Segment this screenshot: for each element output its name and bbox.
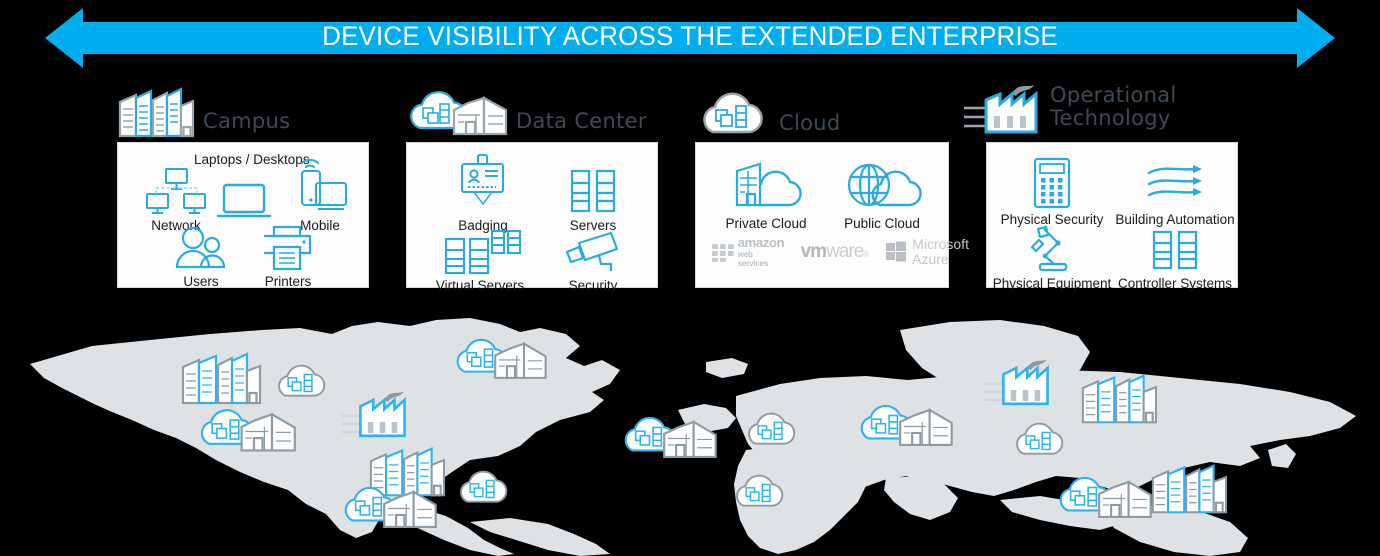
campus-panel: Laptops / Desktops [117,142,369,288]
security-camera-icon [547,221,639,275]
windows-logo-icon [885,241,907,263]
tile-label: Printers [242,274,334,289]
vmware-logo: vm ware ® [801,241,870,263]
page-title: DEVICE VISIBILITY ACROSS THE EXTENDED EN… [28,0,1353,72]
cloud-vendor-logos: amazon web services vm ware ® Microsoft [710,235,969,268]
tile-security[interactable]: Security [547,221,639,293]
aws-logo: amazon web services [710,235,785,268]
azure-line1: Microsoft [912,237,969,252]
aws-name: amazon [738,235,785,250]
tile-virtual-servers[interactable]: Virtual Servers [417,221,543,293]
printer-icon [242,217,334,271]
category-cloud: Cloud Private Cloud [695,84,949,288]
tile-label: Security [547,278,639,293]
data-center-title: Data Center [516,110,647,132]
airflow-icon [1109,155,1241,209]
factory-icon [964,80,1064,147]
datacenter-cloud-building-icon [406,84,511,144]
campus-header: Campus [117,84,369,142]
azure-line2: Azure [912,252,969,267]
tile-label: Controller Systems [1109,276,1241,291]
cloud-header: Cloud [695,84,949,142]
aws-boxes-icon [710,240,736,264]
tile-public-cloud[interactable]: Public Cloud [824,157,940,231]
ot-header: Operational Technology [986,78,1238,142]
tile-label: Private Cloud [708,216,824,231]
data-center-header: Data Center [406,84,658,142]
controller-racks-icon [1109,219,1241,273]
category-operational-technology: Operational Technology Physical Security [986,78,1238,288]
vmware-name-bold: vm [801,241,826,263]
vmware-trademark: ® [863,250,869,259]
private-cloud-icon [708,157,824,213]
virtual-servers-icon [417,221,543,275]
tile-printers[interactable]: Printers [242,217,334,289]
cloud-servers-icon [695,88,773,145]
public-cloud-icon [824,157,940,213]
tile-private-cloud[interactable]: Private Cloud [708,157,824,231]
cloud-panel: Private Cloud Public Cloud [695,142,949,288]
category-data-center: Data Center Badging [406,84,658,288]
office-buildings-icon [117,84,197,144]
tile-physical-equipment[interactable]: Physical Equipment [989,219,1115,291]
aws-subtitle: web services [738,250,785,268]
vmware-name-light: ware [826,241,863,263]
tile-label: Users [158,274,244,289]
tile-label: Public Cloud [824,216,940,231]
tile-controller-systems[interactable]: Controller Systems [1109,219,1241,291]
robot-arm-icon [989,219,1115,273]
tile-building-automation[interactable]: Building Automation [1109,155,1241,227]
ot-panel: Physical Security Building Au [986,142,1238,288]
keypad-icon [989,155,1115,209]
campus-title: Campus [203,110,290,132]
tile-label: Virtual Servers [417,278,543,293]
world-map [0,300,1380,556]
tile-users[interactable]: Users [158,217,244,289]
data-center-panel: Badging Servers [406,142,658,288]
badge-card-icon [431,153,535,215]
tile-label: Physical Equipment [989,276,1115,291]
banner: DEVICE VISIBILITY ACROSS THE EXTENDED EN… [0,0,1380,72]
azure-logo: Microsoft Azure [885,237,969,267]
mobile-devices-icon [270,153,370,215]
servers-icon [547,161,639,215]
tile-physical-security[interactable]: Physical Security [989,155,1115,227]
ot-title: Operational Technology [1050,84,1177,130]
cloud-title: Cloud [779,112,841,134]
users-icon [158,217,244,271]
category-campus: Campus Laptops / Desktops [117,84,369,288]
